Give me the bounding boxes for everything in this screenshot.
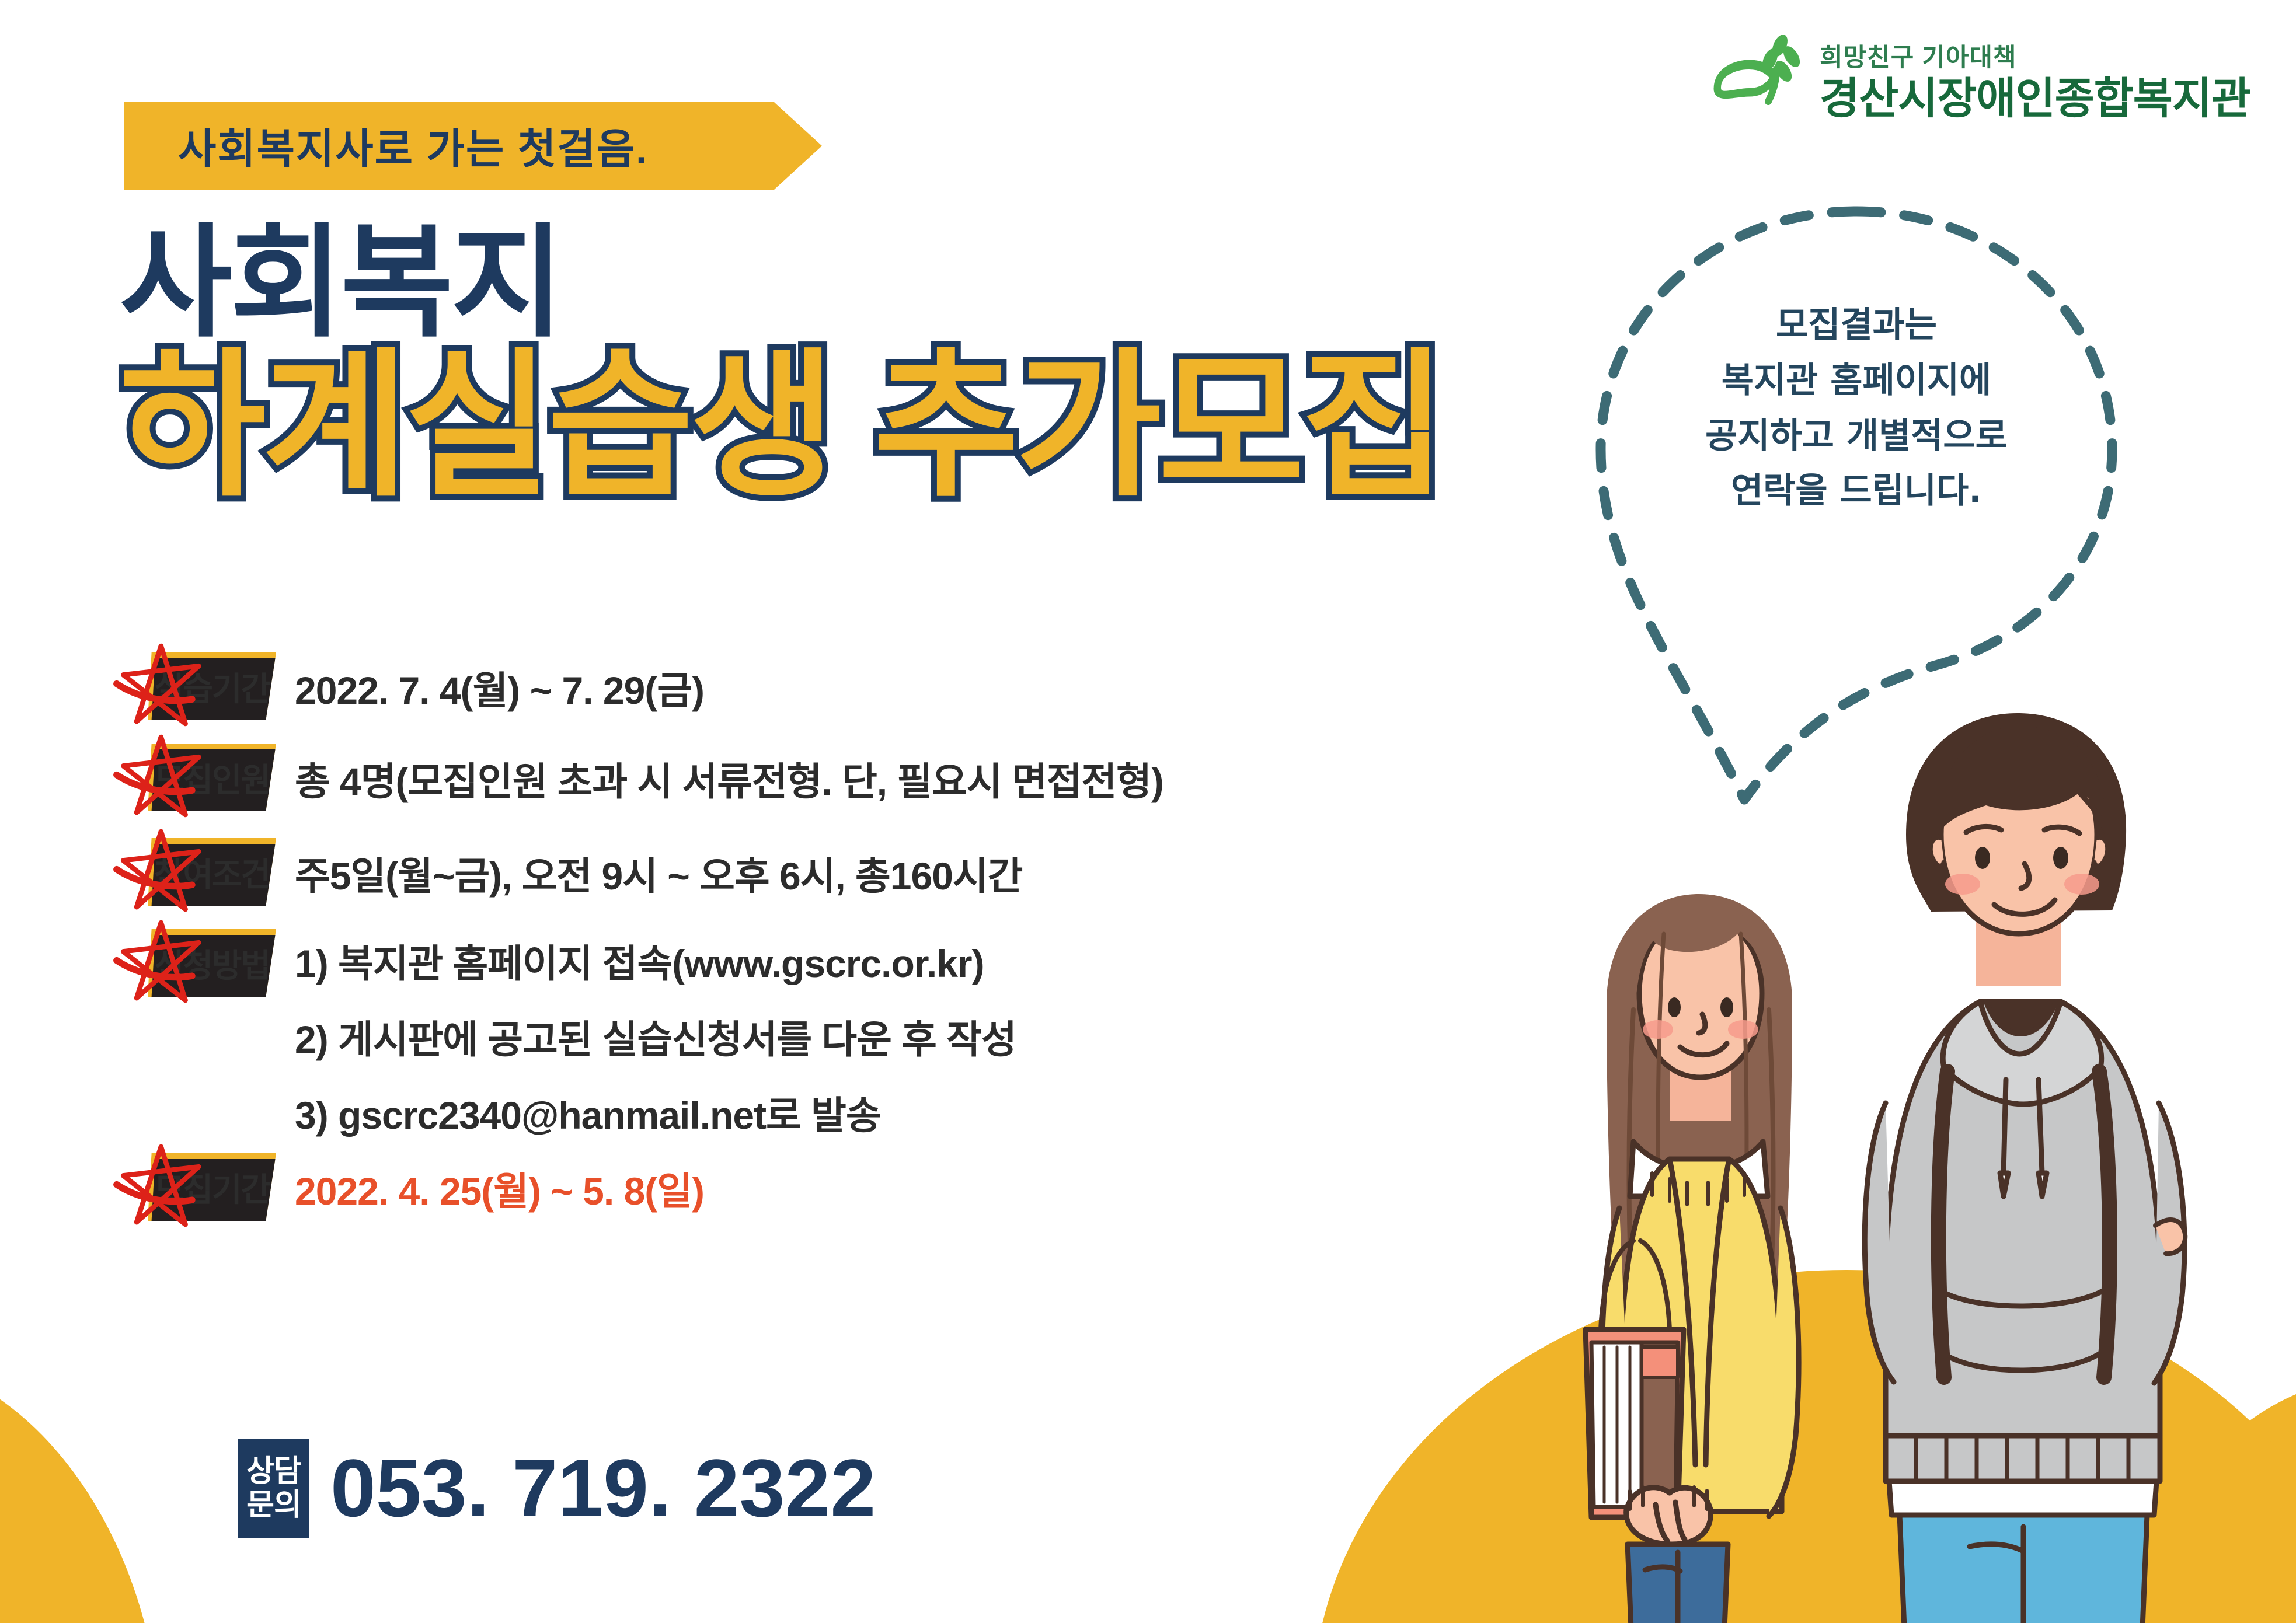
bubble-line-1: 모집결과는	[1588, 298, 2125, 353]
info-list: 실습기간 2022. 7. 4(월) ~ 7. 29(금) 모집인원 총 4명(…	[120, 652, 1614, 1221]
info-row-headcount: 모집인원 총 4명(모집인원 초과 시 서류전형. 단, 필요시 면접전형)	[120, 744, 1614, 811]
organization-logo: 희망친구 기아대책 경산시장애인종합복지관	[1712, 35, 2250, 123]
tag-wrap-apply-method: 신청방법	[120, 929, 295, 997]
tag-label-period: 실습기간	[154, 663, 270, 710]
headline-line-2: 하계실습생 추가모집	[120, 347, 1444, 505]
corner-accent-left	[0, 1330, 159, 1623]
contact-badge-line-2: 문의	[246, 1488, 301, 1522]
logo-text-block: 희망친구 기아대책 경산시장애인종합복지관	[1820, 37, 2250, 120]
headline-line-1: 사회복지	[120, 222, 1444, 344]
tag-recruit-period: 모집기간	[148, 1153, 276, 1221]
contact-block: 상담 문의 053. 719. 2322	[238, 1439, 876, 1538]
tag-label-headcount: 모집인원	[154, 754, 270, 801]
logo-subtitle: 희망친구 기아대책	[1820, 37, 2250, 74]
value-recruit-period: 2022. 4. 25(월) ~ 5. 8(일)	[295, 1153, 704, 1216]
tag-label-apply-method: 신청방법	[154, 940, 270, 987]
contact-badge-line-1: 상담	[246, 1454, 301, 1488]
value-period: 2022. 7. 4(월) ~ 7. 29(금)	[295, 652, 704, 715]
fish-leaf-logo-icon	[1712, 35, 1806, 123]
tag-wrap-headcount: 모집인원	[120, 744, 295, 811]
info-row-recruit-period: 모집기간 2022. 4. 25(월) ~ 5. 8(일)	[120, 1153, 1614, 1221]
logo-title: 경산시장애인종합복지관	[1820, 77, 2250, 120]
speech-bubble: 모집결과는 복지관 홈페이지에 공지하고 개별적으로 연락을 드립니다.	[1588, 198, 2125, 817]
value-condition: 주5일(월~금), 오전 9시 ~ 오후 6시, 총160시간	[295, 838, 1022, 901]
bubble-line-2: 복지관 홈페이지에	[1588, 353, 2125, 409]
info-row-period: 실습기간 2022. 7. 4(월) ~ 7. 29(금)	[120, 652, 1614, 720]
info-row-condition: 참여조건 주5일(월~금), 오전 9시 ~ 오후 6시, 총160시간	[120, 838, 1614, 906]
tag-period: 실습기간	[148, 652, 276, 720]
apply-step-2: 2) 게시판에 공고된 실습신청서를 다운 후 작성	[295, 1008, 1016, 1064]
tag-apply-method: 신청방법	[148, 929, 276, 997]
tag-wrap-condition: 참여조건	[120, 838, 295, 906]
value-apply-method: 1) 복지관 홈페이지 접속(www.gscrc.or.kr) 2) 게시판에 …	[295, 929, 1016, 1140]
poster-root: 사회복지사로 가는 첫걸음. 사회복지 하계실습생 추가모집 희망친구 기아대책…	[0, 0, 2296, 1623]
page-title: 사회복지 하계실습생 추가모집	[120, 222, 1444, 505]
ribbon-text: 사회복지사로 가는 첫걸음.	[178, 116, 649, 176]
tag-headcount: 모집인원	[148, 744, 276, 811]
bubble-line-3: 공지하고 개별적으로	[1588, 409, 2125, 464]
tag-wrap-recruit-period: 모집기간	[120, 1153, 295, 1221]
apply-step-3: 3) gscrc2340@hanmail.net로 발송	[295, 1084, 1016, 1140]
contact-badge: 상담 문의	[238, 1439, 309, 1538]
tag-wrap-period: 실습기간	[120, 652, 295, 720]
info-row-apply-method: 신청방법 1) 복지관 홈페이지 접속(www.gscrc.or.kr) 2) …	[120, 929, 1614, 1140]
apply-step-1: 1) 복지관 홈페이지 접속(www.gscrc.or.kr)	[295, 933, 1016, 989]
tag-condition: 참여조건	[148, 838, 276, 906]
tag-label-condition: 참여조건	[154, 849, 270, 896]
value-headcount: 총 4명(모집인원 초과 시 서류전형. 단, 필요시 면접전형)	[295, 744, 1163, 807]
ribbon-banner: 사회복지사로 가는 첫걸음.	[124, 102, 822, 190]
tag-label-recruit-period: 모집기간	[154, 1164, 270, 1211]
speech-bubble-text: 모집결과는 복지관 홈페이지에 공지하고 개별적으로 연락을 드립니다.	[1588, 298, 2125, 519]
bubble-line-4: 연락을 드립니다.	[1588, 463, 2125, 519]
contact-phone-number: 053. 719. 2322	[330, 1441, 876, 1535]
